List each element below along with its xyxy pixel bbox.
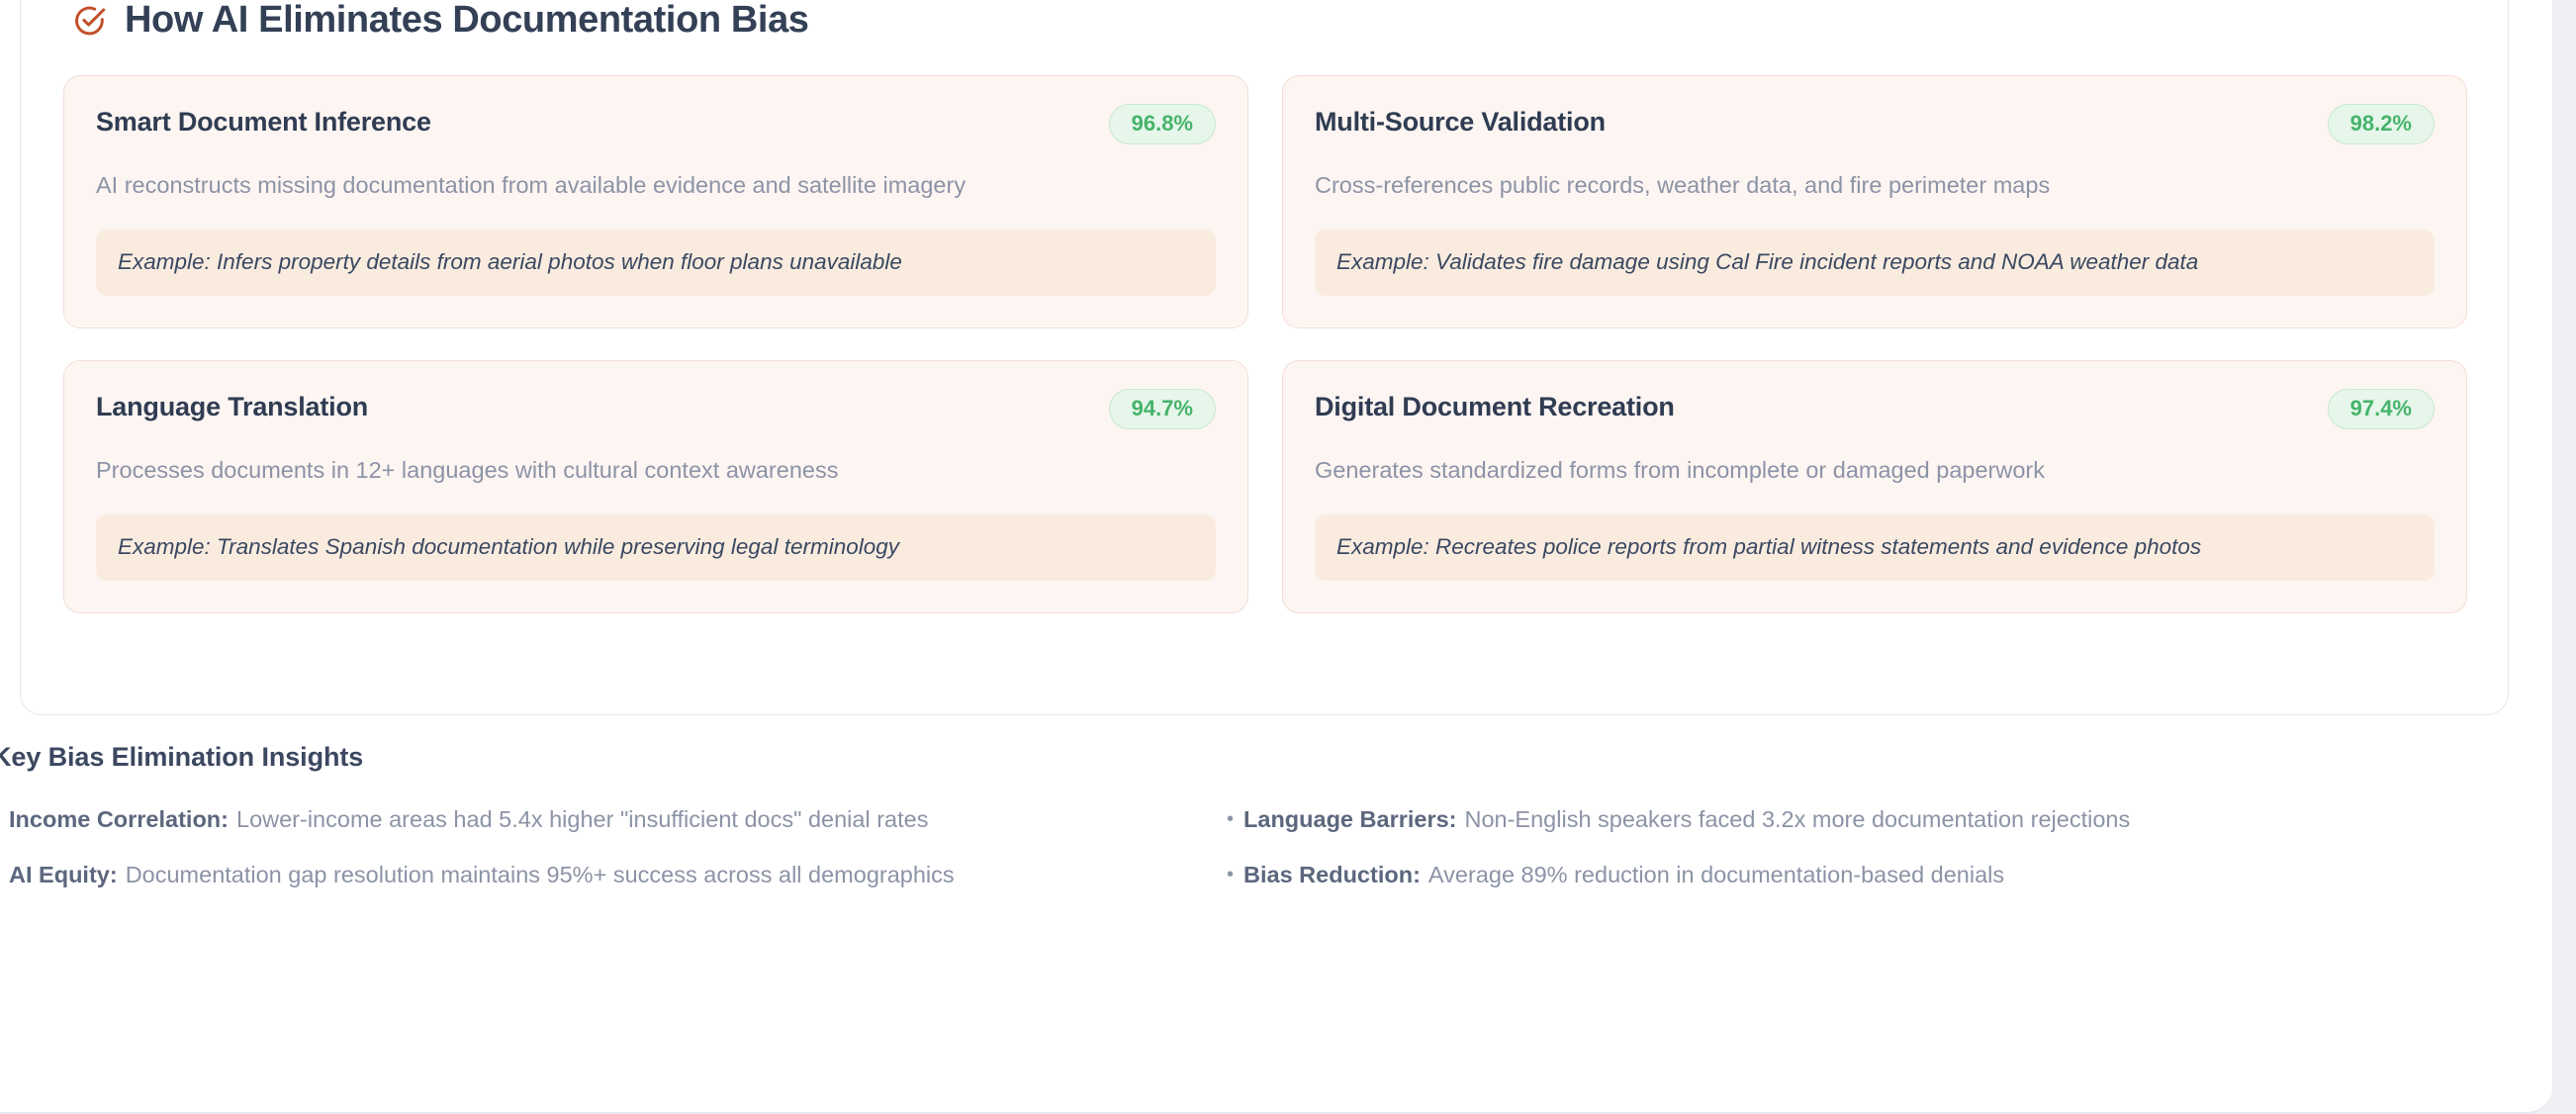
page-panel: How AI Eliminates Documentation Bias Sma… [0, 0, 2552, 1114]
feature-title: Smart Document Inference [96, 104, 431, 138]
feature-example-text: Example: Translates Spanish documentatio… [118, 534, 899, 559]
feature-example-box: Example: Translates Spanish documentatio… [96, 514, 1216, 581]
check-circle-icon [72, 4, 106, 38]
insight-label: Language Barriers: [1243, 802, 1456, 836]
status-badge: 94.7% [1109, 389, 1216, 429]
feature-card[interactable]: Multi-Source Validation 98.2% Cross-refe… [1282, 75, 2467, 328]
insight-item: • AI Equity: Documentation gap resolutio… [0, 858, 1227, 891]
insight-text: Non-English speakers faced 3.2x more doc… [1465, 802, 2131, 836]
section-header: How AI Eliminates Documentation Bias [72, 0, 809, 42]
feature-title: Language Translation [96, 389, 368, 422]
feature-card[interactable]: Smart Document Inference 96.8% AI recons… [63, 75, 1248, 328]
status-badge: 96.8% [1109, 104, 1216, 144]
insights-title: Key Bias Elimination Insights [0, 742, 2465, 773]
feature-card-top: Smart Document Inference 96.8% [96, 104, 1216, 144]
feature-card[interactable]: Language Translation 94.7% Processes doc… [63, 360, 1248, 613]
insight-text: Lower-income areas had 5.4x higher "insu… [236, 802, 928, 836]
insight-item: • Income Correlation: Lower-income areas… [0, 802, 1227, 836]
feature-description: Cross-references public records, weather… [1315, 170, 2435, 202]
feature-example-box: Example: Recreates police reports from p… [1315, 514, 2435, 581]
feature-example-text: Example: Recreates police reports from p… [1336, 534, 2201, 559]
insight-item: • Bias Reduction: Average 89% reduction … [1227, 858, 2465, 891]
bullet-icon: • [1227, 805, 1234, 834]
insight-label: Bias Reduction: [1243, 858, 1421, 891]
insight-label: AI Equity: [9, 858, 118, 891]
insight-item: • Language Barriers: Non-English speaker… [1227, 802, 2465, 836]
feature-description: AI reconstructs missing documentation fr… [96, 170, 1216, 202]
bullet-icon: • [1227, 861, 1234, 889]
status-badge: 97.4% [2328, 389, 2435, 429]
feature-description: Processes documents in 12+ languages wit… [96, 455, 1216, 487]
page-title: How AI Eliminates Documentation Bias [125, 0, 809, 42]
insights-grid: • Income Correlation: Lower-income areas… [0, 802, 2465, 891]
feature-card[interactable]: Digital Document Recreation 97.4% Genera… [1282, 360, 2467, 613]
feature-example-box: Example: Infers property details from ae… [96, 230, 1216, 296]
status-badge: 98.2% [2328, 104, 2435, 144]
feature-card-grid: Smart Document Inference 96.8% AI recons… [63, 75, 2467, 613]
insights-section: Key Bias Elimination Insights • Income C… [0, 742, 2465, 891]
insight-label: Income Correlation: [9, 802, 229, 836]
feature-card-top: Language Translation 94.7% [96, 389, 1216, 429]
insight-text: Average 89% reduction in documentation-b… [1428, 858, 2004, 891]
documentation-bias-section: How AI Eliminates Documentation Bias Sma… [20, 0, 2509, 715]
feature-title: Multi-Source Validation [1315, 104, 1606, 138]
feature-description: Generates standardized forms from incomp… [1315, 455, 2435, 487]
feature-example-box: Example: Validates fire damage using Cal… [1315, 230, 2435, 296]
feature-title: Digital Document Recreation [1315, 389, 1675, 422]
feature-card-top: Digital Document Recreation 97.4% [1315, 389, 2435, 429]
feature-example-text: Example: Validates fire damage using Cal… [1336, 249, 2198, 274]
insight-text: Documentation gap resolution maintains 9… [126, 858, 955, 891]
feature-example-text: Example: Infers property details from ae… [118, 249, 902, 274]
feature-card-top: Multi-Source Validation 98.2% [1315, 104, 2435, 144]
